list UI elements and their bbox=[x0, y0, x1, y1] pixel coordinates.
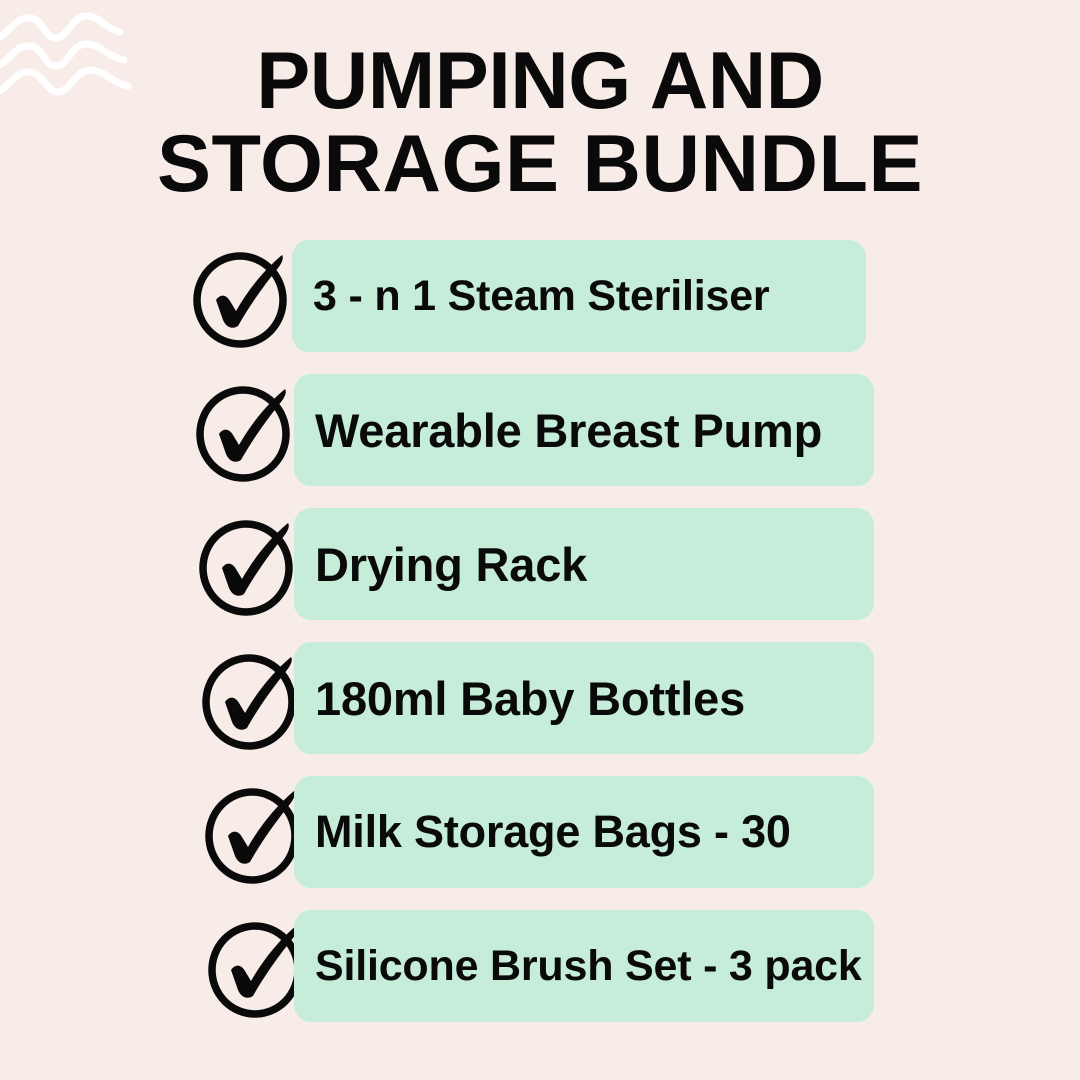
list-item[interactable]: Milk Storage Bags - 30 bbox=[0, 776, 1080, 888]
bundle-item-pill[interactable]: Silicone Brush Set - 3 pack bbox=[294, 910, 874, 1022]
check-circle-icon bbox=[190, 246, 294, 350]
bundle-checklist: 3 - n 1 Steam Steriliser Wearable Breast… bbox=[0, 240, 1080, 1022]
bundle-item-label: 3 - n 1 Steam Steriliser bbox=[292, 272, 787, 321]
list-item[interactable]: Drying Rack bbox=[0, 508, 1080, 620]
check-circle-icon bbox=[193, 380, 297, 484]
list-item[interactable]: 180ml Baby Bottles bbox=[0, 642, 1080, 754]
list-item[interactable]: Wearable Breast Pump bbox=[0, 374, 1080, 486]
list-item[interactable]: Silicone Brush Set - 3 pack bbox=[0, 910, 1080, 1022]
bundle-item-label: Silicone Brush Set - 3 pack bbox=[294, 942, 880, 991]
title-line-1: PUMPING AND bbox=[0, 40, 1080, 123]
title-line-2: STORAGE BUNDLE bbox=[0, 123, 1080, 206]
bundle-item-pill[interactable]: 3 - n 1 Steam Steriliser bbox=[292, 240, 866, 352]
page-title: PUMPING AND STORAGE BUNDLE bbox=[0, 40, 1080, 206]
poster-canvas: PUMPING AND STORAGE BUNDLE 3 - n 1 Steam… bbox=[0, 0, 1080, 1080]
bundle-item-label: 180ml Baby Bottles bbox=[294, 671, 763, 726]
bundle-item-pill[interactable]: Milk Storage Bags - 30 bbox=[294, 776, 874, 888]
bundle-item-pill[interactable]: Wearable Breast Pump bbox=[294, 374, 874, 486]
list-item[interactable]: 3 - n 1 Steam Steriliser bbox=[0, 240, 1080, 352]
bundle-item-label: Drying Rack bbox=[294, 537, 605, 592]
check-circle-icon bbox=[199, 648, 303, 752]
check-circle-icon bbox=[196, 514, 300, 618]
check-circle-icon bbox=[202, 782, 306, 886]
bundle-item-pill[interactable]: 180ml Baby Bottles bbox=[294, 642, 874, 754]
bundle-item-label: Milk Storage Bags - 30 bbox=[294, 806, 809, 858]
bundle-item-label: Wearable Breast Pump bbox=[294, 403, 840, 458]
bundle-item-pill[interactable]: Drying Rack bbox=[294, 508, 874, 620]
